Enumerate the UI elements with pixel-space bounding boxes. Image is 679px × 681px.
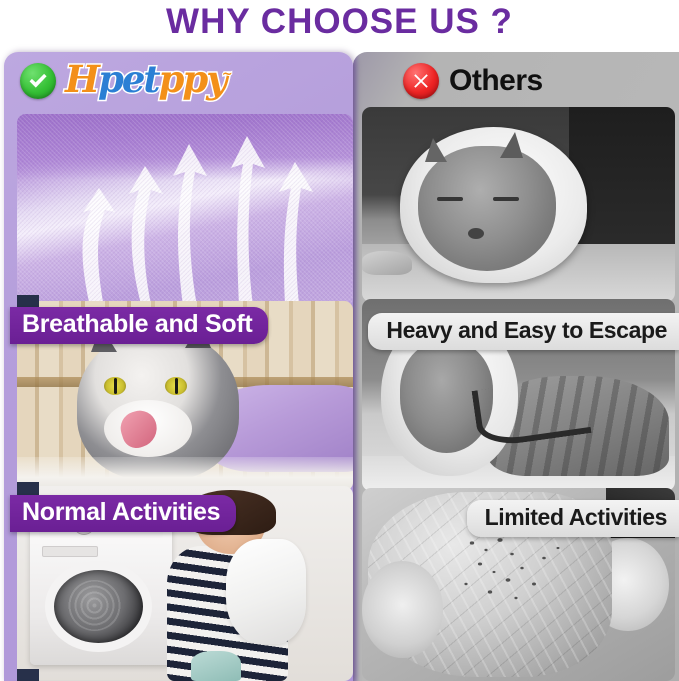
others-panel-image-1: [362, 107, 675, 302]
others-caption-2: Limited Activities: [467, 500, 679, 537]
brand-accent-mark: ~: [222, 67, 233, 82]
brand-logo: Hpetppy~: [65, 61, 237, 98]
brand-panel-image-1: [17, 114, 353, 307]
brand-segment-1: H: [65, 57, 98, 101]
page-title: WHY CHOOSE US ?: [0, 2, 679, 42]
others-column: Others: [353, 52, 679, 681]
brand-segment-2: pet: [98, 57, 159, 101]
comparison-poster: WHY CHOOSE US ? Others: [0, 0, 679, 681]
red-x-circle-icon: [403, 63, 439, 99]
brand-column-header: Hpetppy~: [4, 52, 353, 110]
green-check-circle-icon: [20, 63, 56, 99]
others-caption-1: Heavy and Easy to Escape: [368, 313, 679, 350]
others-label: Others: [449, 64, 543, 98]
panel-notch-3: [17, 669, 39, 681]
brand-caption-2: Normal Activities: [10, 495, 236, 532]
others-column-header: Others: [353, 52, 679, 110]
brand-caption-1: Breathable and Soft: [10, 307, 268, 344]
brand-column: Hpetppy~: [4, 52, 353, 681]
brand-segment-3: ppy: [158, 57, 225, 101]
